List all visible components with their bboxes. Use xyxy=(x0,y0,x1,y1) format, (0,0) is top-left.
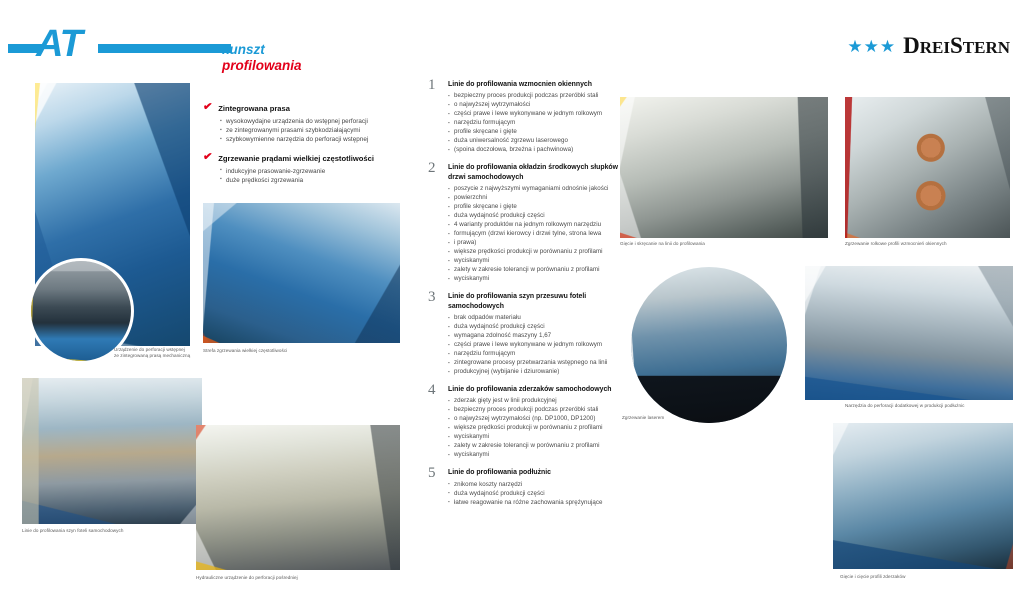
at-logo-mark: AT xyxy=(36,25,82,63)
section-number: 5 xyxy=(428,466,436,481)
brand-letters-tern: TERN xyxy=(963,38,1010,57)
section-seat-rails: 3 Linie do profilowania szyn przesuwu fo… xyxy=(428,292,618,376)
feature-title: Zgrzewanie prądami wielkiej częstotliwoś… xyxy=(218,154,374,164)
section-item: zintegrowane procesy przetwarzania wstęp… xyxy=(448,358,618,367)
section-item: wyciskanymi xyxy=(448,274,618,283)
caption-bumper-cut: Gięcie i cięcie profili zderzaków xyxy=(840,574,1015,580)
feature-items: indukcyjne prasowanie-zgrzewanie duże pr… xyxy=(220,167,408,185)
section-items: brak odpadów materiału duża wydajność pr… xyxy=(448,313,618,376)
section-title: Linie do profilowania szyn przesuwu fote… xyxy=(448,292,618,311)
section-item: większe prędkości produkcji w porównaniu… xyxy=(448,247,618,256)
check-icon: ✔ xyxy=(203,152,213,162)
caption-roll-forming-line: Urządzenie do perforacji wstępnej ze zin… xyxy=(114,347,206,359)
caption-laser-welding: Zgrzewanie laserem xyxy=(622,415,732,421)
section-number: 2 xyxy=(428,161,436,176)
section-item: części prawe i lewe wykonywane w jednym … xyxy=(448,109,618,118)
section-item: narzędziu formującym xyxy=(448,349,618,358)
section-item: duża uniwersalność zgrzewu laserowego xyxy=(448,136,618,145)
caption-bend-twist: Gięcie i skręcanie na linii do profilowa… xyxy=(620,241,825,247)
caption-extra-perforation-tools: Narzędzia do perforacji dodatkowej w pro… xyxy=(845,403,1020,409)
section-item: wymagana zdolność maszyny 1,67 xyxy=(448,331,618,340)
check-icon: ✔ xyxy=(203,103,213,113)
section-item: powierzchni xyxy=(448,193,618,202)
tagline-line-2: profilowania xyxy=(222,58,302,74)
section-door-pillar-cladding: 2 Linie do profilowania okładzin środkow… xyxy=(428,163,618,283)
photo-bumper-cut xyxy=(833,423,1013,569)
photo-roller-welding xyxy=(845,97,1010,238)
feature-block-integrated-press: ✔ Zintegrowana prasa wysokowydajne urząd… xyxy=(203,104,408,145)
section-item: (spoina doczołowa, brzeżna i pachwinowa) xyxy=(448,145,618,154)
section-item: duża wydajność produkcji części xyxy=(448,322,618,331)
feature-item: szybkowymienne narzędzia do perforacji w… xyxy=(220,135,408,144)
photo-hydraulic-perforation xyxy=(196,425,400,570)
section-item: duża wydajność produkcji części xyxy=(448,489,618,498)
section-item: narzędziu formującym xyxy=(448,118,618,127)
brochure-page: AT kunszt profilowania ★★★ DREISTERN Urz… xyxy=(0,0,1024,600)
section-item: 4 warianty produktów na jednym rolkowym … xyxy=(448,220,618,229)
section-item: brak odpadów materiału xyxy=(448,313,618,322)
section-item: zalety w zakresie tolerancji w porównani… xyxy=(448,265,618,274)
feature-item: duże prędkości zgrzewania xyxy=(220,176,408,185)
section-item: części prawe i lewe wykonywane w jednym … xyxy=(448,340,618,349)
section-item: duża wydajność produkcji części xyxy=(448,211,618,220)
section-item: formującym (drzwi kierowcy i drzwi tylne… xyxy=(448,229,618,238)
section-bumpers: 4 Linie do profilowania zderzaków samoch… xyxy=(428,385,618,459)
section-items: poszycie z najwyższymi wymaganiami odnoś… xyxy=(448,184,618,283)
photo-hf-welding-zone xyxy=(203,203,400,343)
feature-item: ze zintegrowanymi prasami szybkodziałają… xyxy=(220,126,408,135)
photo-bend-twist xyxy=(620,97,828,238)
section-item: profile skręcane i gięte xyxy=(448,202,618,211)
section-item: profile skręcane i gięte xyxy=(448,127,618,136)
caption-line-2: ze zintegrowaną prasą mechaniczną xyxy=(114,353,206,359)
section-title: Linie do profilowania okładzin środkowyc… xyxy=(448,163,618,182)
section-items: zderzak gięty jest w linii produkcyjnej … xyxy=(448,396,618,459)
section-item: większe prędkości produkcji w porównaniu… xyxy=(448,423,618,432)
caption-hydraulic-perforation: Hydrauliczne urządzenie do perforacji po… xyxy=(196,575,396,581)
feature-item: wysokowydajne urządzenia do wstępnej per… xyxy=(220,117,408,126)
photo-laser-welding xyxy=(628,264,790,426)
page-header: AT kunszt profilowania ★★★ DREISTERN xyxy=(0,0,1024,78)
section-item: zalety w zakresie tolerancji w porównani… xyxy=(448,441,618,450)
section-number: 3 xyxy=(428,290,436,305)
section-item: wyciskanymi xyxy=(448,432,618,441)
caption-roller-welding: Zgrzewanie rolkowe profili wzmocnień oki… xyxy=(845,241,1015,247)
feature-item: indukcyjne prasowanie-zgrzewanie xyxy=(220,167,408,176)
section-title: Linie do profilowania wzmocnien okiennyc… xyxy=(448,80,618,89)
tagline-line-1: kunszt xyxy=(222,42,302,58)
feature-items: wysokowydajne urządzenia do wstępnej per… xyxy=(220,117,408,145)
section-item: poszycie z najwyższymi wymaganiami odnoś… xyxy=(448,184,618,193)
brand-letters-rei: REI xyxy=(920,38,950,57)
section-item: bezpieczny proces produkcji podczas prze… xyxy=(448,405,618,414)
three-stars-icon: ★★★ xyxy=(847,38,896,55)
section-item: o najwyższej wytrzymałości xyxy=(448,100,618,109)
section-title: Linie do profilowania podłużnic xyxy=(448,468,618,477)
section-item: zderzak gięty jest w linii produkcyjnej xyxy=(448,396,618,405)
caption-seat-rail-line: Linie do profilowania szyn foteli samoch… xyxy=(22,528,202,534)
section-item: łatwe reagowanie na różne zachowania spr… xyxy=(448,498,618,507)
section-items: bezpieczny proces produkcji podczas prze… xyxy=(448,91,618,154)
brand-wordmark: DREISTERN xyxy=(903,34,1010,59)
photo-seat-rail-line xyxy=(22,378,202,524)
section-item: wyciskanymi xyxy=(448,256,618,265)
section-title: Linie do profilowania zderzaków samochod… xyxy=(448,385,618,394)
feature-heading: ✔ Zgrzewanie prądami wielkiej częstotliw… xyxy=(203,154,408,164)
feature-list: ✔ Zintegrowana prasa wysokowydajne urząd… xyxy=(203,104,408,194)
brand-letter-d: D xyxy=(903,33,920,58)
section-item: produkcyjnej (wybijanie i dziurowanie) xyxy=(448,367,618,376)
section-item: o najwyższej wytrzymałości (np. DP1000, … xyxy=(448,414,618,423)
feature-heading: ✔ Zintegrowana prasa xyxy=(203,104,408,114)
section-window-reinforcement: 1 Linie do profilowania wzmocnien okienn… xyxy=(428,80,618,154)
feature-title: Zintegrowana prasa xyxy=(218,104,290,114)
section-item: wyciskanymi xyxy=(448,450,618,459)
section-item: i prawa) xyxy=(448,238,618,247)
section-number: 1 xyxy=(428,78,436,93)
dreistern-logo: ★★★ DREISTERN xyxy=(847,34,1010,59)
section-number: 4 xyxy=(428,383,436,398)
section-item: bezpieczny proces produkcji podczas prze… xyxy=(448,91,618,100)
header-tagline: kunszt profilowania xyxy=(222,42,302,73)
photo-extra-perforation-tools xyxy=(805,266,1013,400)
caption-hf-welding-zone: Strefa zgrzewania wielkiej częstotliwośc… xyxy=(203,348,393,354)
section-items: znikome koszty narzędzi duża wydajność p… xyxy=(448,480,618,507)
section-item: znikome koszty narzędzi xyxy=(448,480,618,489)
section-longitudinal-members: 5 Linie do profilowania podłużnic znikom… xyxy=(428,468,618,506)
header-rule-right xyxy=(98,44,231,53)
feature-block-hf-welding: ✔ Zgrzewanie prądami wielkiej częstotliw… xyxy=(203,154,408,185)
brand-letter-s: S xyxy=(950,33,963,58)
product-sections: 1 Linie do profilowania wzmocnien okienn… xyxy=(428,80,618,516)
